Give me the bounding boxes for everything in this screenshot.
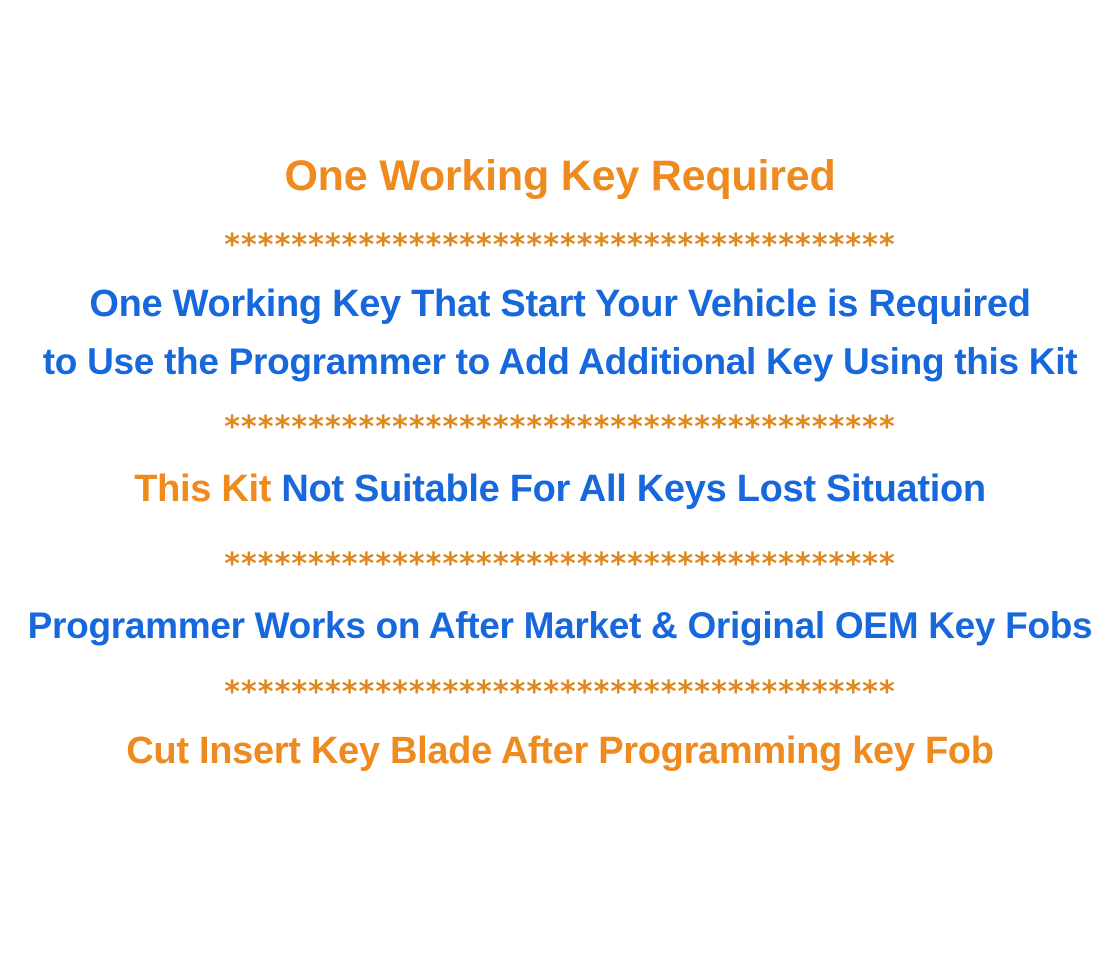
- suitability-remainder: Not Suitable For All Keys Lost Situation: [271, 468, 986, 510]
- product-notice-graphic: One Working Key Required ***************…: [0, 0, 1120, 956]
- compatibility-notice: Programmer Works on After Market & Origi…: [0, 607, 1120, 644]
- requirement-text-line-1: One Working Key That Start Your Vehicle …: [0, 285, 1120, 323]
- separator-asterisks-3: ****************************************: [0, 550, 1120, 580]
- headline-one-working-key-required: One Working Key Required: [0, 155, 1120, 198]
- separator-asterisks-4: ****************************************: [0, 678, 1120, 708]
- instruction-cut-key-blade: Cut Insert Key Blade After Programming k…: [0, 732, 1120, 770]
- separator-asterisks-1: ****************************************: [0, 231, 1120, 261]
- requirement-text-line-2: to Use the Programmer to Add Additional …: [0, 343, 1120, 380]
- separator-asterisks-2: ****************************************: [0, 413, 1120, 443]
- suitability-highlight-this-kit: This Kit: [134, 468, 271, 510]
- suitability-notice: This Kit Not Suitable For All Keys Lost …: [0, 470, 1120, 508]
